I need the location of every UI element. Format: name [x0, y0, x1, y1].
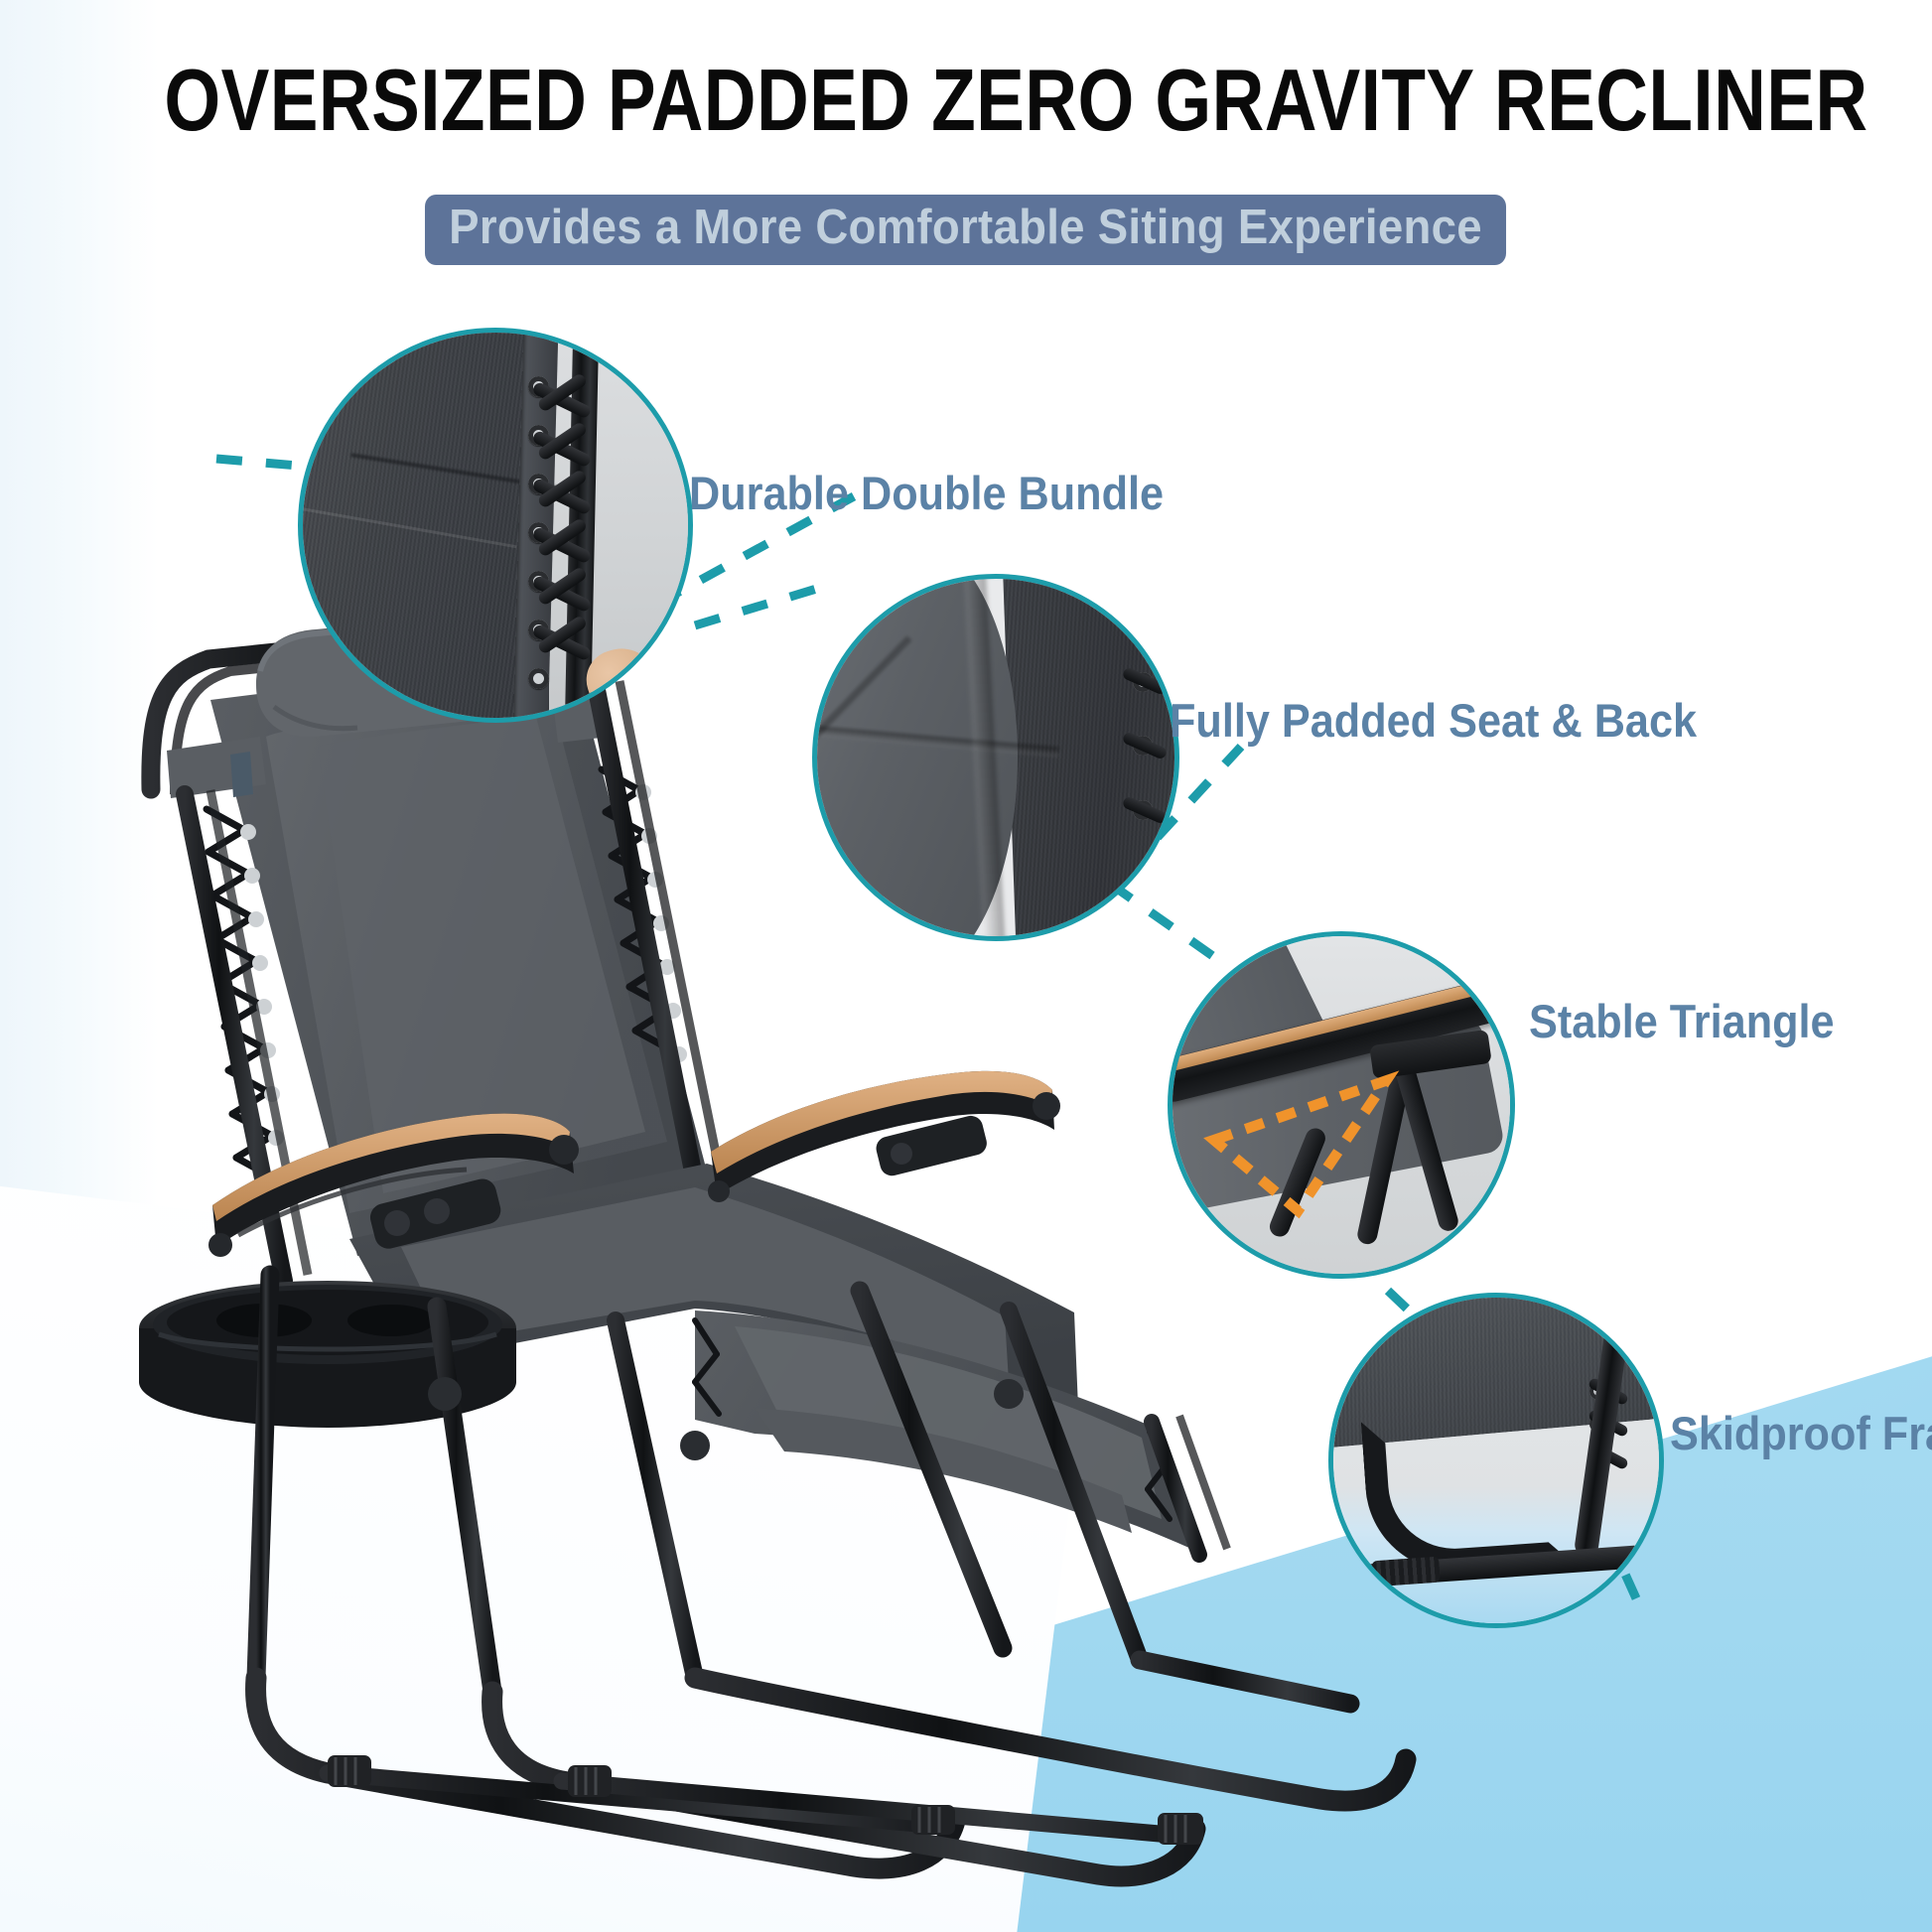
triangle-highlight-overlay [1206, 1064, 1436, 1219]
detail-circle-stable-triangle[interactable] [1168, 931, 1515, 1279]
callout-label-durable-double-bundle: Durable Double Bundle [689, 470, 1164, 516]
padding-detail-fabric [1003, 574, 1179, 941]
detail-circle-durable-double-bundle[interactable] [298, 328, 693, 723]
bungee-detail-grommet-column [528, 355, 563, 702]
callout-label-stable-triangle: Stable Triangle [1529, 998, 1835, 1044]
bungee-detail-fabric [298, 328, 549, 723]
product-image-zero-gravity-recliner [0, 0, 1932, 1932]
callout-label-fully-padded-seat-back: Fully Padded Seat & Back [1170, 697, 1697, 744]
detail-circle-skidproof-frame[interactable] [1328, 1293, 1664, 1628]
skid-detail-rubber-cap [1372, 1556, 1442, 1587]
callout-label-skidproof-frame: Skidproof Frame [1670, 1410, 1932, 1456]
infographic-canvas: OVERSIZED PADDED ZERO GRAVITY RECLINER P… [0, 0, 1932, 1932]
detail-circle-fully-padded-seat-back[interactable] [812, 574, 1179, 941]
